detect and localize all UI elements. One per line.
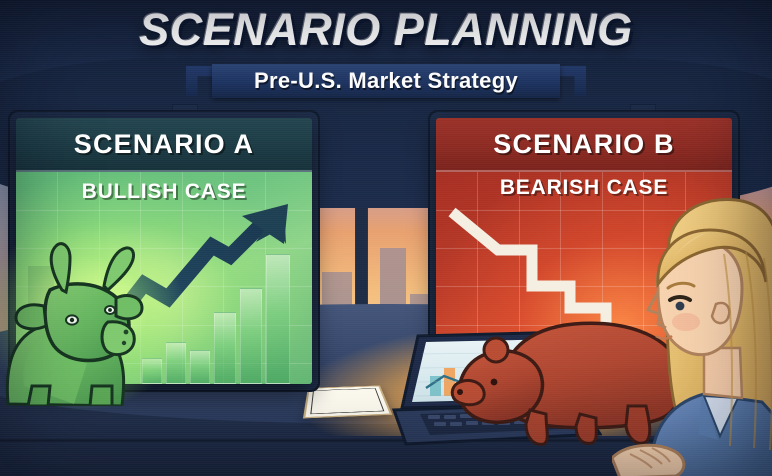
scenario-planning-infographic: SCENARIO A bbox=[0, 0, 772, 476]
page-title: SCENARIO PLANNING bbox=[0, 4, 772, 56]
page-subtitle: Pre-U.S. Market Strategy bbox=[212, 64, 560, 98]
scenario-a-header: SCENARIO A bbox=[16, 118, 312, 172]
subtitle-ribbon: Pre-U.S. Market Strategy bbox=[186, 64, 586, 98]
bull-illustration bbox=[4, 236, 154, 406]
scenario-b-header: SCENARIO B bbox=[436, 118, 732, 172]
scenario-a-subtitle: BULLISH CASE bbox=[16, 180, 312, 204]
businesswoman-illustration bbox=[612, 196, 772, 476]
